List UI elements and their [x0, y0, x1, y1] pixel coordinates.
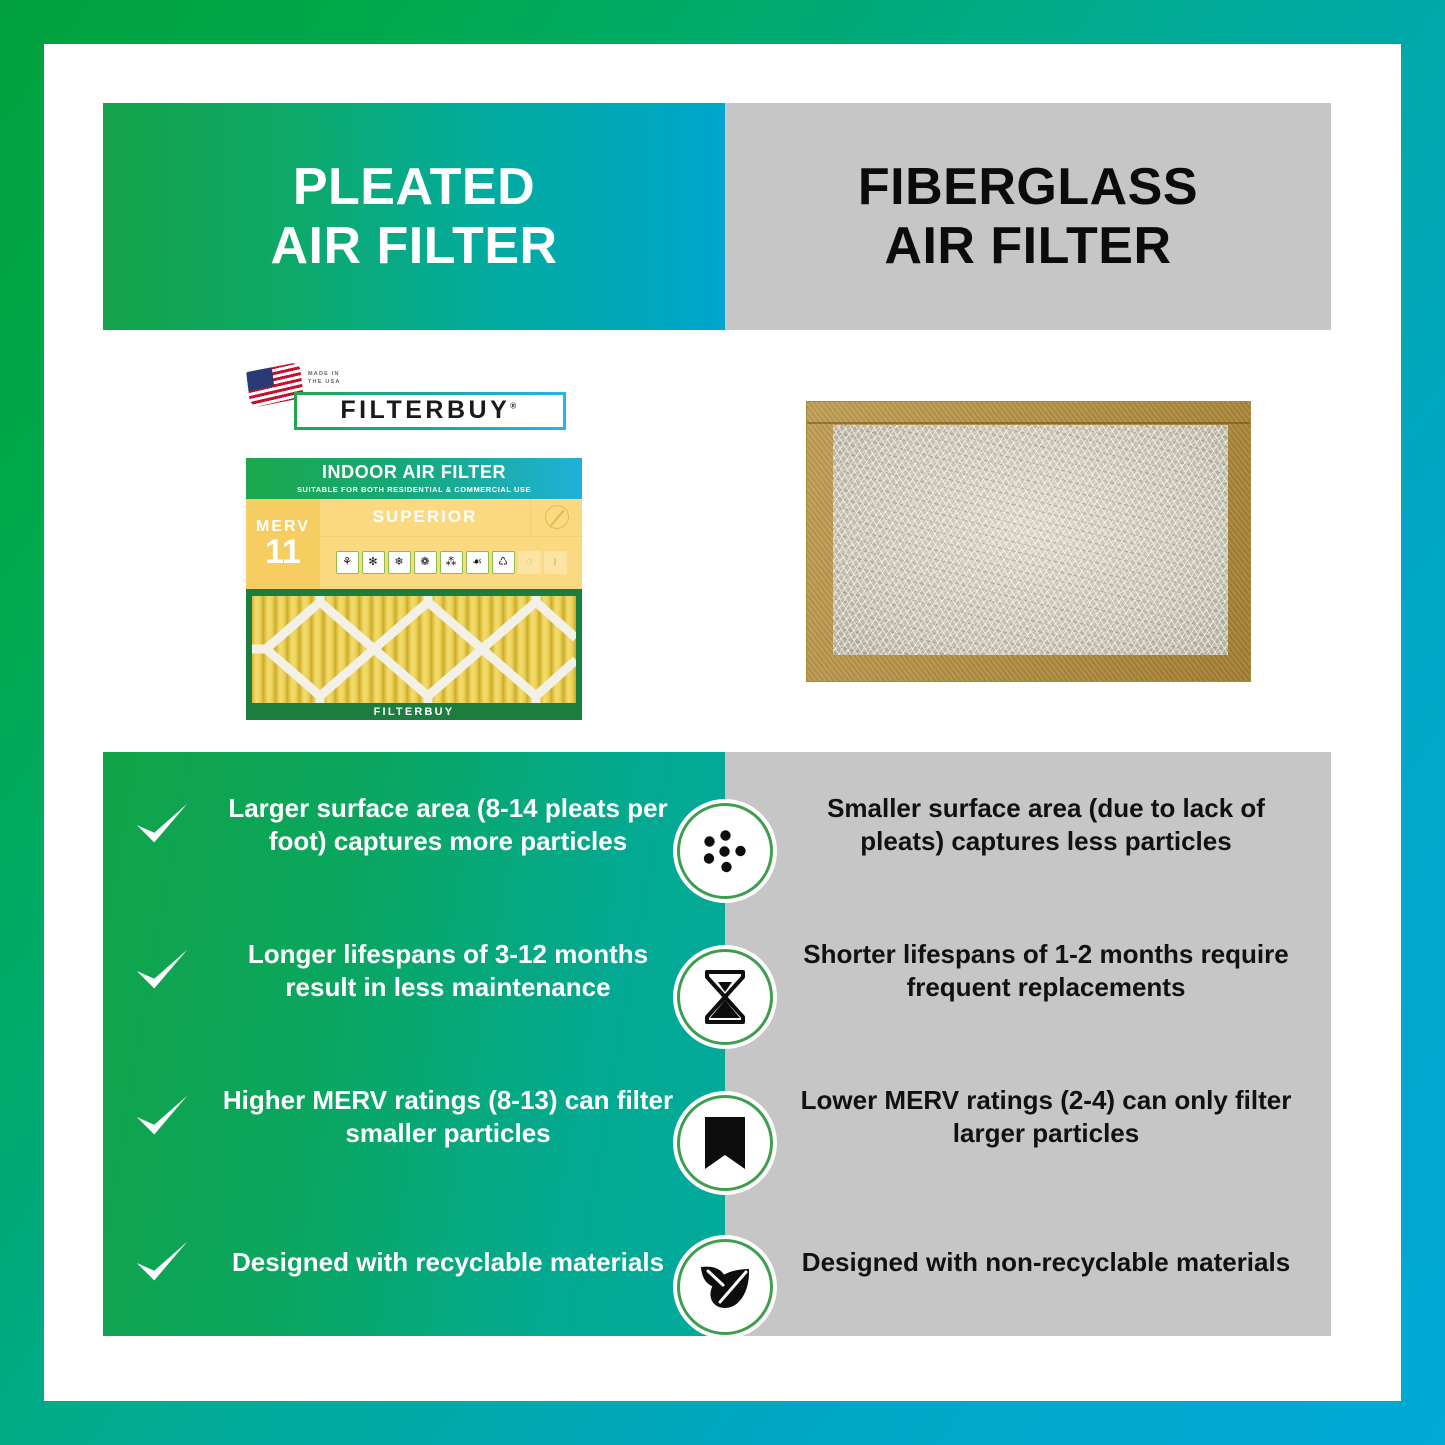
odor-icon: ≀ — [544, 551, 567, 574]
fiberglass-media-texture — [833, 425, 1228, 655]
comparison-panel: Larger surface area (8-14 pleats per foo… — [103, 752, 1331, 1336]
list-item: Designed with recyclable materials — [103, 1190, 725, 1336]
box-feature-icon-strip: ⚘ ✻ ❄ ❁ ⁂ ☙ ♺ ◌ ≀ — [320, 537, 582, 589]
diamond-wire-mesh — [252, 596, 576, 703]
merv-badge: MERV 11 — [246, 499, 320, 589]
comparison-infographic: PLEATED AIR FILTER FIBERGLASS AIR FILTER… — [103, 103, 1331, 1336]
list-item: Longer lifespans of 3-12 months result i… — [103, 898, 725, 1044]
dust-icon: ⚘ — [336, 551, 359, 574]
pleated-benefits-column: Larger surface area (8-14 pleats per foo… — [103, 752, 725, 1336]
filterbuy-box-image: MADE IN THE USA FILTERBUY® INDOOR AIR FI… — [246, 363, 582, 720]
box-tier-row: SUPERIOR — [320, 499, 582, 537]
fiberglass-header-panel: FIBERGLASS AIR FILTER — [725, 103, 1331, 330]
list-item: Shorter lifespans of 1-2 months require … — [725, 898, 1331, 1044]
list-item: Larger surface area (8-14 pleats per foo… — [103, 752, 725, 898]
bacteria-icon: ⁂ — [440, 551, 463, 574]
box-pleated-filter-face: FILTERBUY — [246, 589, 582, 720]
pleated-benefit-text: Larger surface area (8-14 pleats per foo… — [213, 792, 683, 859]
checkmark-icon — [131, 794, 193, 856]
filterbuy-brand-text: FILTERBUY® — [340, 396, 519, 425]
checkmark-icon — [131, 1232, 193, 1294]
checkmark-icon — [131, 1086, 193, 1148]
made-in-usa-text: MADE IN THE USA — [308, 370, 341, 387]
fiberglass-drawbacks-column: Smaller surface area (due to lack of ple… — [725, 752, 1331, 1336]
pleated-header-line2: AIR FILTER — [270, 217, 557, 275]
pleated-header-line1: PLEATED — [270, 158, 557, 216]
box-top-section: MADE IN THE USA FILTERBUY® — [246, 363, 582, 458]
checkmark-icon — [131, 940, 193, 1002]
fiberglass-header-title: FIBERGLASS AIR FILTER — [858, 158, 1198, 274]
pleated-product-cell: MADE IN THE USA FILTERBUY® INDOOR AIR FI… — [103, 330, 725, 752]
box-band-subtitle: SUITABLE FOR BOTH RESIDENTIAL & COMMERCI… — [246, 485, 582, 494]
filterbuy-logo-frame: FILTERBUY® — [294, 392, 566, 430]
box-seal-cell — [530, 499, 582, 536]
fiberglass-drawback-text: Lower MERV ratings (2-4) can only filter… — [791, 1084, 1301, 1151]
made-in-line1: MADE IN — [308, 370, 341, 378]
fiberglass-product-cell — [725, 330, 1331, 752]
fiberglass-header-line2: AIR FILTER — [858, 217, 1198, 275]
box-band-title: INDOOR AIR FILTER — [246, 462, 582, 483]
fiberglass-drawback-text: Designed with non-recyclable materials — [791, 1246, 1301, 1279]
pollen-icon: ❄ — [388, 551, 411, 574]
box-merv-section: MERV 11 SUPERIOR ⚘ ✻ ❄ — [246, 499, 582, 589]
box-indoor-band: INDOOR AIR FILTER SUITABLE FOR BOTH RESI… — [246, 458, 582, 499]
box-tier-label: SUPERIOR — [320, 507, 530, 527]
pleated-header-title: PLEATED AIR FILTER — [270, 158, 557, 274]
pleated-benefit-text: Longer lifespans of 3-12 months result i… — [213, 938, 683, 1005]
list-item: Smaller surface area (due to lack of ple… — [725, 752, 1331, 898]
pleated-benefit-text: Designed with recyclable materials — [213, 1246, 683, 1279]
fiberglass-air-filter-photo — [806, 401, 1251, 682]
mold-spore-icon: ❁ — [414, 551, 437, 574]
fiberglass-header-line1: FIBERGLASS — [858, 158, 1198, 216]
fiberglass-drawback-text: Smaller surface area (due to lack of ple… — [791, 792, 1301, 859]
merv-value: 11 — [265, 536, 301, 568]
no-smoke-seal-icon — [545, 505, 569, 529]
dust-mite-icon: ✻ — [362, 551, 385, 574]
pleated-benefit-text: Higher MERV ratings (8-13) can filter sm… — [213, 1084, 683, 1151]
made-in-line2: THE USA — [308, 378, 341, 386]
header-row: PLEATED AIR FILTER FIBERGLASS AIR FILTER — [103, 103, 1331, 330]
list-item: Lower MERV ratings (2-4) can only filter… — [725, 1044, 1331, 1190]
box-bottom-brand: FILTERBUY — [246, 706, 582, 718]
pet-dander-icon: ☙ — [466, 551, 489, 574]
list-item: Designed with non-recyclable materials — [725, 1190, 1331, 1336]
box-merv-right: SUPERIOR ⚘ ✻ ❄ ❁ ⁂ ☙ ♺ — [320, 499, 582, 589]
pleated-header-panel: PLEATED AIR FILTER — [103, 103, 725, 330]
virus-icon: ◌ — [518, 551, 541, 574]
smoke-icon: ♺ — [492, 551, 515, 574]
fiberglass-drawback-text: Shorter lifespans of 1-2 months require … — [791, 938, 1301, 1005]
list-item: Higher MERV ratings (8-13) can filter sm… — [103, 1044, 725, 1190]
product-image-row: MADE IN THE USA FILTERBUY® INDOOR AIR FI… — [103, 330, 1331, 752]
